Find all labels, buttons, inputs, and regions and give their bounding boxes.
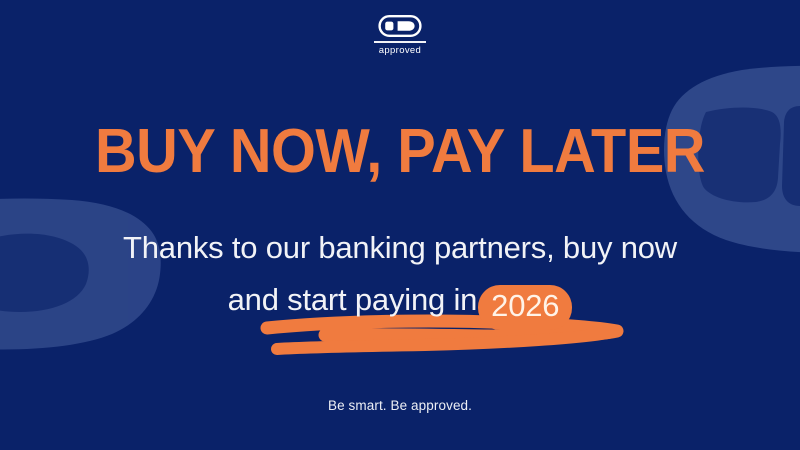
promo-poster: approved BUY NOW, PAY LATER Thanks to ou… [0, 0, 800, 450]
brand-logo: approved [0, 14, 800, 55]
subheadline-line-1: Thanks to our banking partners, buy now [0, 222, 800, 274]
logo-divider-rule [374, 41, 426, 43]
logo-wordmark: approved [379, 46, 421, 56]
subheadline-line-2-text: and start paying in [228, 282, 478, 317]
subheadline-line-2: and start paying in2026 [0, 274, 800, 330]
footer-tagline: Be smart. Be approved. [0, 398, 800, 413]
page-title: BUY NOW, PAY LATER [28, 121, 772, 183]
subheadline: Thanks to our banking partners, buy now … [0, 222, 800, 330]
highlight-year-badge: 2026 [478, 285, 572, 330]
car-top-view-icon [378, 14, 422, 38]
